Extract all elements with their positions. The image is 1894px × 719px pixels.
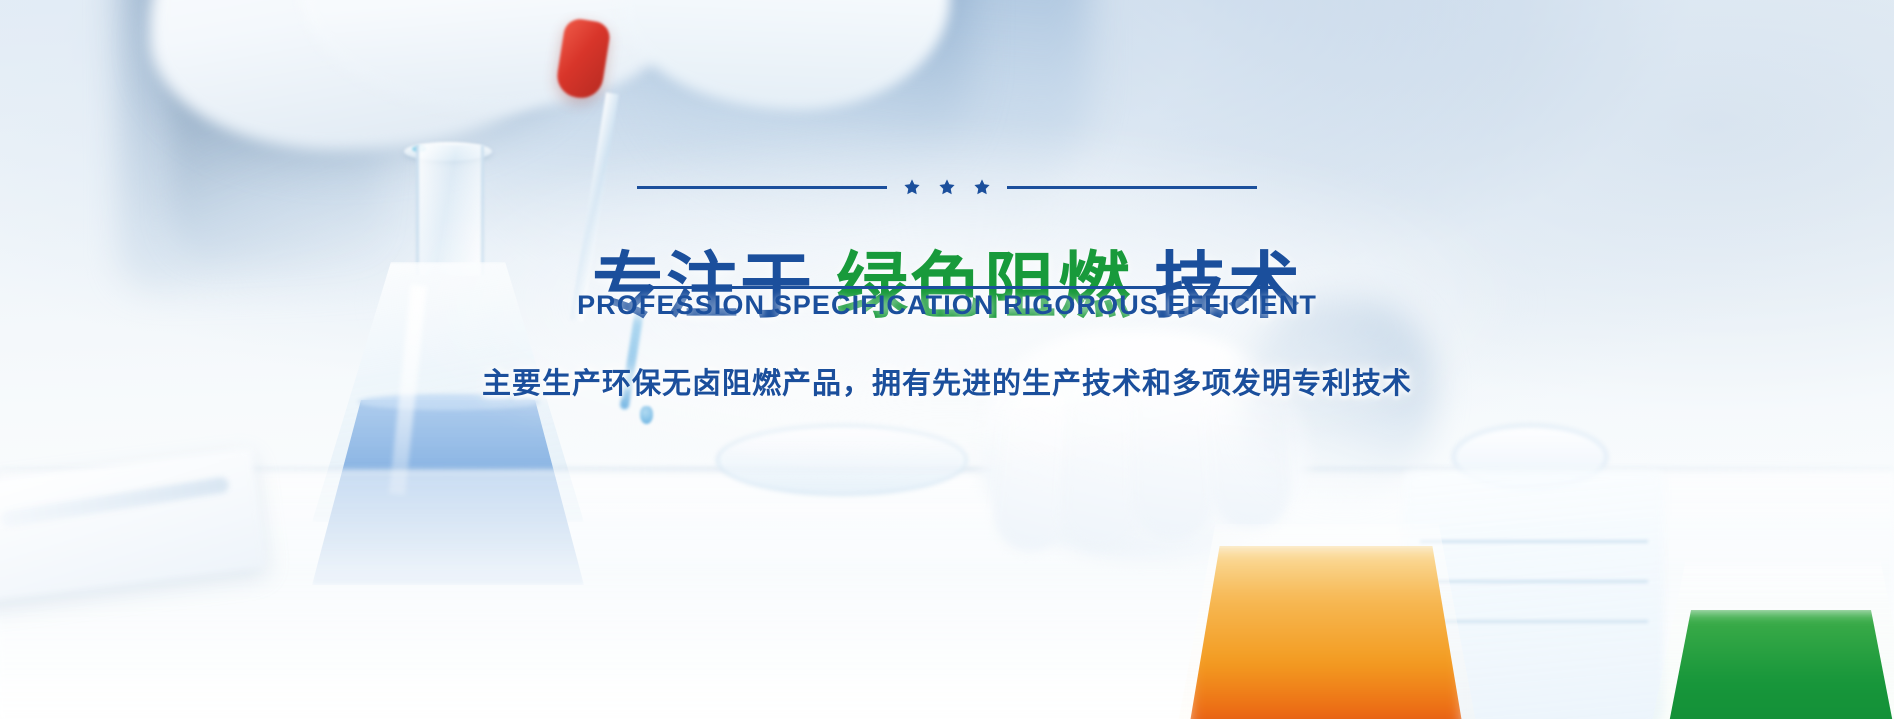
banner-tagline: 主要生产环保无卤阻燃产品，拥有先进的生产技术和多项发明专利技术 xyxy=(482,360,1412,402)
hero-banner: 专注于绿色阻燃技术 PROFESSION SPECIFICATION RIGOR… xyxy=(0,0,1894,719)
star-icon xyxy=(973,178,991,196)
top-divider-line-right xyxy=(1007,186,1257,189)
star-group xyxy=(903,178,991,196)
star-icon xyxy=(938,178,956,196)
bottom-divider-line xyxy=(617,286,1277,289)
banner-content: 专注于绿色阻燃技术 PROFESSION SPECIFICATION RIGOR… xyxy=(0,0,1894,719)
top-divider-line-left xyxy=(637,186,887,189)
star-icon xyxy=(903,178,921,196)
banner-subtitle: PROFESSION SPECIFICATION RIGOROUS EFFICI… xyxy=(577,290,1317,321)
top-divider-row xyxy=(617,178,1277,196)
